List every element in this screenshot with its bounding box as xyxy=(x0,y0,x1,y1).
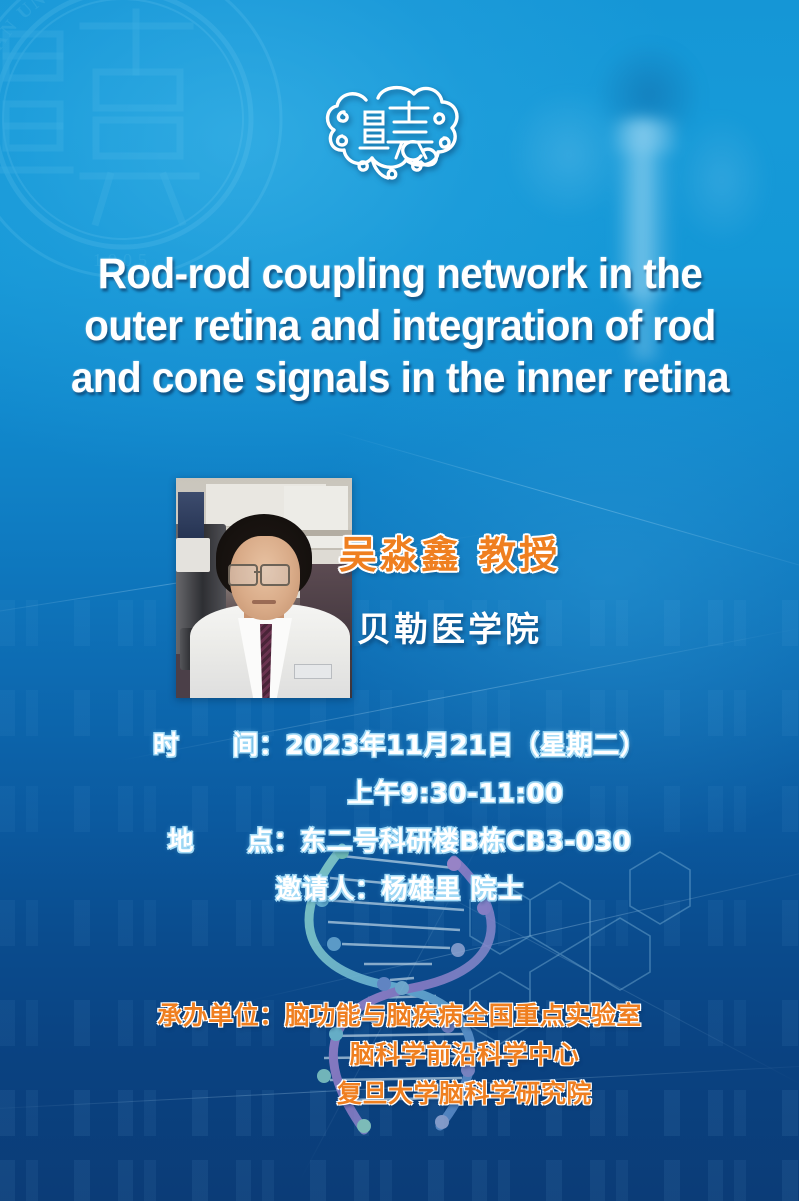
organizer-line-3: 复旦大学脑科学研究院 xyxy=(0,1074,799,1113)
title-line-3: and cone signals in the inner retina xyxy=(71,352,729,404)
title-line-1: Rod-rod coupling network in the xyxy=(71,248,729,300)
organizer-line-2: 脑科学前沿科学中心 xyxy=(0,1035,799,1074)
event-time-date: 时 间：2023年11月21日（星期二） xyxy=(0,722,799,770)
fudan-university-seal-watermark: FUDAN UNIVERSITY 1905 xyxy=(0,0,288,284)
page-title: Rod-rod coupling network in the outer re… xyxy=(50,248,750,404)
seminar-poster: FUDAN UNIVERSITY 1905 xyxy=(0,0,799,1201)
organizer-list: 承办单位：脑功能与脑疾病全国重点实验室 脑科学前沿科学中心 复旦大学脑科学研究院 xyxy=(0,996,799,1113)
barcode-pattern xyxy=(0,1160,799,1201)
title-line-2: outer retina and integration of rod xyxy=(71,300,729,352)
brain-logo-icon xyxy=(320,78,480,182)
background-glow-top xyxy=(0,0,680,480)
speaker-name: 吴淼鑫 教授 xyxy=(0,524,799,579)
event-details: 时 间：2023年11月21日（星期二） 上午9:30-11:00 地 点：东二… xyxy=(0,722,799,914)
event-location: 地 点：东二号科研楼B栋CB3-030 xyxy=(0,818,799,866)
event-time-clock: 上午9:30-11:00 xyxy=(0,770,799,818)
svg-text:FUDAN UNIVERSITY: FUDAN UNIVERSITY xyxy=(0,0,155,94)
speaker-portrait-photo xyxy=(176,478,352,698)
organizer-line-1: 承办单位：脑功能与脑疾病全国重点实验室 xyxy=(0,996,799,1035)
speaker-affiliation: 贝勒医学院 xyxy=(0,602,799,651)
event-host-inviter: 邀请人：杨雄里 院士 xyxy=(0,866,799,914)
